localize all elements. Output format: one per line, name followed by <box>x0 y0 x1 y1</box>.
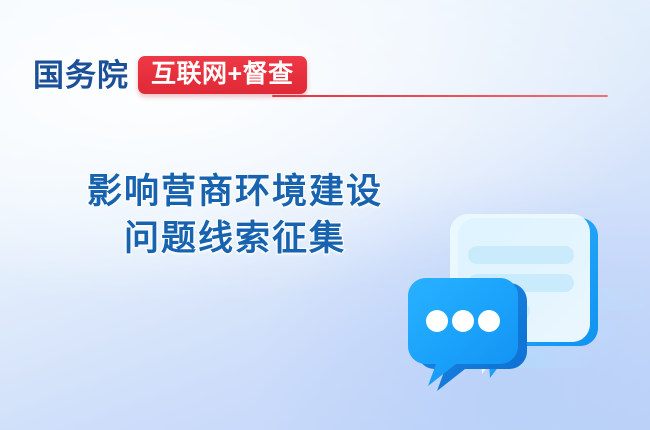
gov-banner: 国务院 互联网+督查 影响营商环境建设 问题线索征集 <box>0 0 650 430</box>
program-badge[interactable]: 互联网+督查 <box>138 56 307 94</box>
program-badge-label: 互联网+督查 <box>151 60 294 88</box>
header-divider-rule <box>272 95 608 97</box>
message-bubble-dots <box>408 278 527 391</box>
typing-dots <box>426 310 500 332</box>
organization-name: 国务院 <box>33 60 129 91</box>
speech-bubbles-illustration <box>400 196 650 406</box>
banner-header: 国务院 互联网+督查 <box>33 53 307 97</box>
